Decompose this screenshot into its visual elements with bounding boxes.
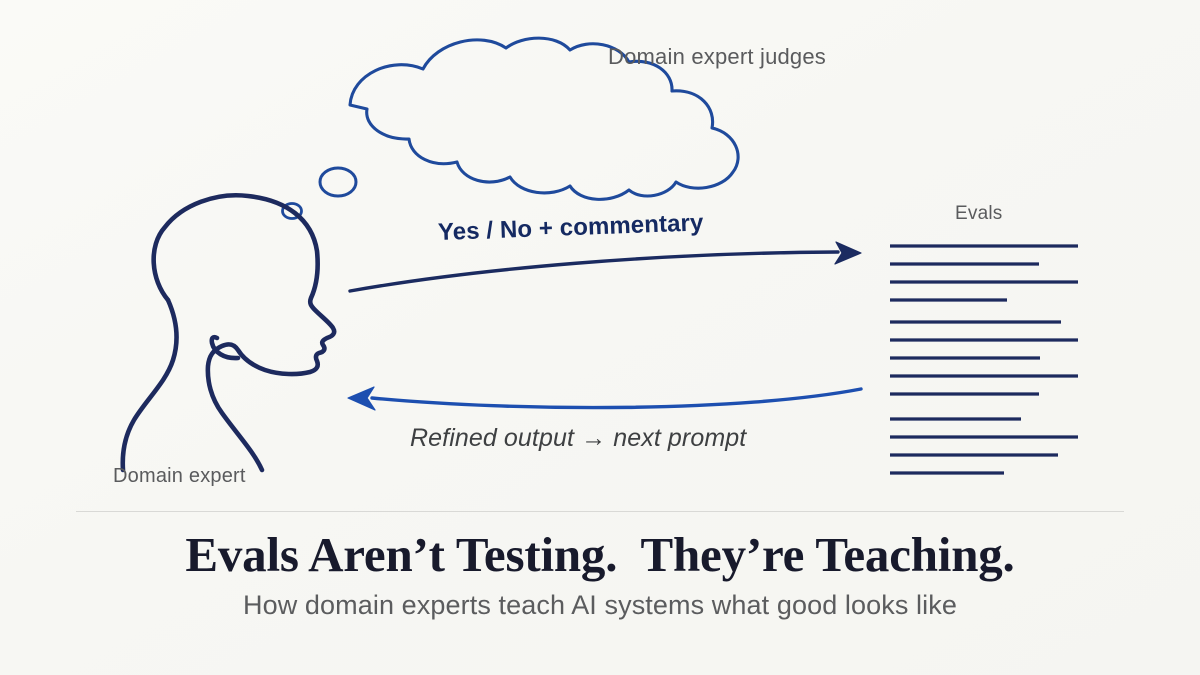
evals-document-label: Evals (955, 203, 1002, 225)
thought-cloud-label: Domain expert judges (608, 44, 826, 70)
footer-divider (76, 511, 1124, 512)
page-title: Evals Aren’t Testing. They’re Teaching. (0, 526, 1200, 583)
domain-expert-label: Domain expert (113, 465, 246, 488)
slide-canvas: Domain expert judges Evals Domain expert… (0, 0, 1200, 675)
head-profile-icon (123, 195, 334, 470)
forward-arrow (350, 242, 861, 291)
feedback-arrow-caption: Refined output → next prompt (410, 424, 746, 453)
thought-bubble-large-icon (320, 168, 356, 196)
feedback-arrow (348, 387, 861, 410)
document-lines-icon (890, 246, 1078, 473)
page-subtitle: How domain experts teach AI systems what… (0, 590, 1200, 621)
